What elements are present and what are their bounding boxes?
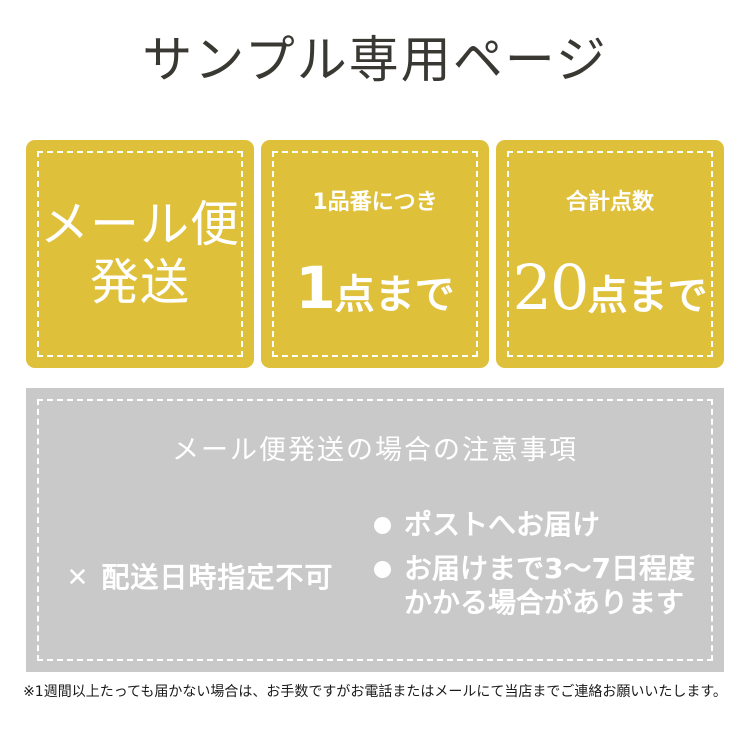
notice-restriction: ✕ 配送日時指定不可 — [26, 508, 374, 648]
notice-bullet-2-line2: かかる場合があります — [404, 586, 695, 620]
info-cards-row: メール便 発送 1品番につき 1 点まで 合計点数 2 — [26, 140, 724, 368]
card-total-limit-unit: 点まで — [587, 274, 707, 318]
bullet-dot-icon — [374, 517, 391, 534]
sample-shipping-banner: サンプル専用ページ メール便 発送 1品番につき 1 点まで — [0, 0, 750, 750]
notice-restriction-label: 配送日時指定不可 — [101, 561, 333, 595]
list-item: ポストへお届け — [374, 508, 724, 542]
card-per-item-limit-value: 1 点まで — [295, 258, 454, 318]
card-shipping-method-line2: 発送 — [90, 254, 190, 312]
card-shipping-method: メール便 発送 — [26, 140, 254, 368]
card-per-item-limit-label: 1品番につき — [312, 190, 437, 216]
bullet-dot-icon — [374, 561, 391, 578]
card-per-item-limit-number: 1 — [295, 258, 334, 318]
card-total-limit-label: 合計点数 — [566, 190, 654, 216]
notice-heading: メール便発送の場合の注意事項 — [26, 434, 724, 468]
card-total-limit-value: 20 点まで — [513, 258, 708, 318]
card-per-item-limit-unit: 点まで — [335, 273, 455, 317]
page-title: サンプル専用ページ — [0, 28, 750, 92]
card-per-item-limit-content: 1品番につき 1 点まで — [261, 140, 489, 368]
notice-bullet-2-text: お届けまで3〜7日程度 かかる場合があります — [404, 552, 695, 620]
card-shipping-method-content: メール便 発送 — [26, 140, 254, 368]
footer-note: ※1週間以上たっても届かない場合は、お手数ですがお電話またはメールにて当店までご… — [0, 682, 750, 702]
card-total-limit-content: 合計点数 20 点まで — [496, 140, 724, 368]
notice-panel: メール便発送の場合の注意事項 ✕ 配送日時指定不可 ポストへお届け — [26, 388, 724, 672]
notice-bullet-1-text: ポストへお届け — [404, 508, 600, 542]
card-per-item-limit: 1品番につき 1 点まで — [261, 140, 489, 368]
notice-bullet-1-line1: ポストへお届け — [404, 508, 600, 541]
notice-restriction-text: ✕ 配送日時指定不可 — [67, 561, 334, 595]
card-shipping-method-line1: メール便 — [40, 196, 240, 254]
card-total-limit: 合計点数 20 点まで — [496, 140, 724, 368]
notice-bullet-2-line1: お届けまで3〜7日程度 — [404, 552, 695, 585]
notice-body: ✕ 配送日時指定不可 ポストへお届け お届けまで3〜7日程度 かかる場合がありま… — [26, 508, 724, 648]
card-total-limit-number: 20 — [513, 258, 588, 318]
notice-bullet-list: ポストへお届け お届けまで3〜7日程度 かかる場合があります — [374, 508, 724, 630]
cross-icon: ✕ — [67, 561, 90, 595]
list-item: お届けまで3〜7日程度 かかる場合があります — [374, 552, 724, 620]
